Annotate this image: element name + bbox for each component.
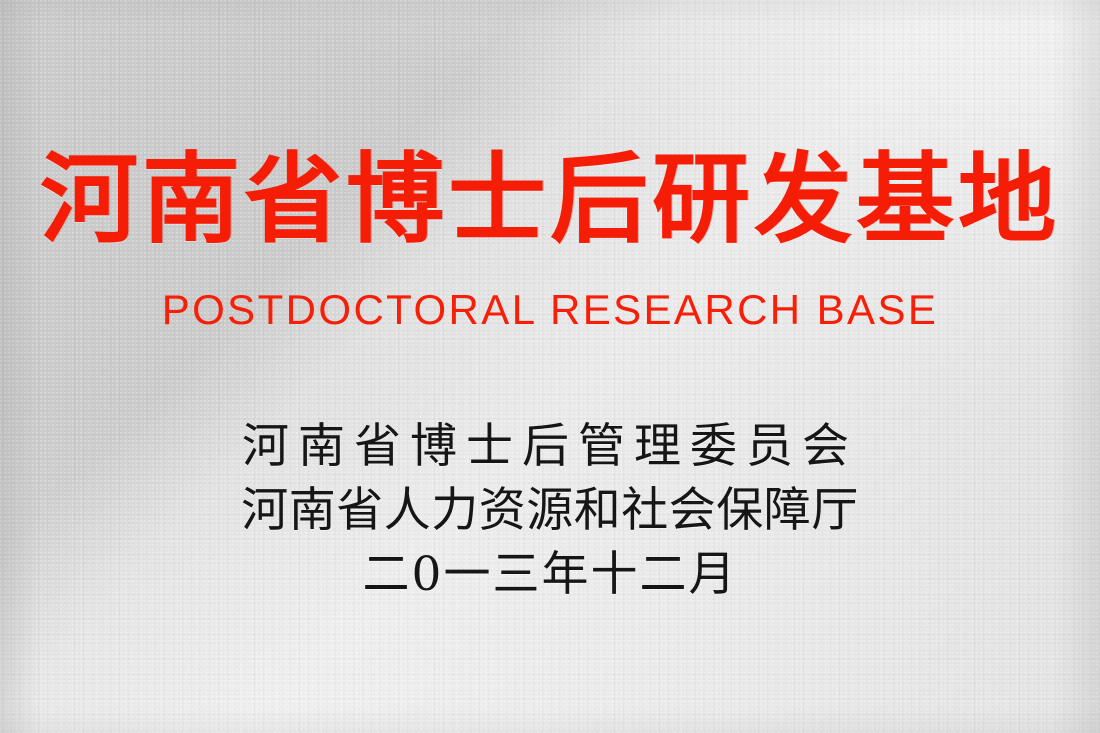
plaque-title-english: POSTDOCTORAL RESEARCH BASE	[0, 286, 1100, 334]
issuer-line-department: 河南省人力资源和社会保障厅	[0, 479, 1100, 543]
plaque-title-chinese: 河南省博士后研发基地	[0, 148, 1100, 254]
plaque-issuer-block: 河南省博士后管理委员会 河南省人力资源和社会保障厅 二0一三年十二月	[0, 415, 1100, 607]
issuer-line-committee: 河南省博士后管理委员会	[0, 415, 1100, 479]
plaque-content: 河南省博士后研发基地 POSTDOCTORAL RESEARCH BASE 河南…	[0, 0, 1100, 733]
issuer-date: 二0一三年十二月	[0, 543, 1100, 607]
plaque-board: 河南省博士后研发基地 POSTDOCTORAL RESEARCH BASE 河南…	[0, 0, 1100, 733]
